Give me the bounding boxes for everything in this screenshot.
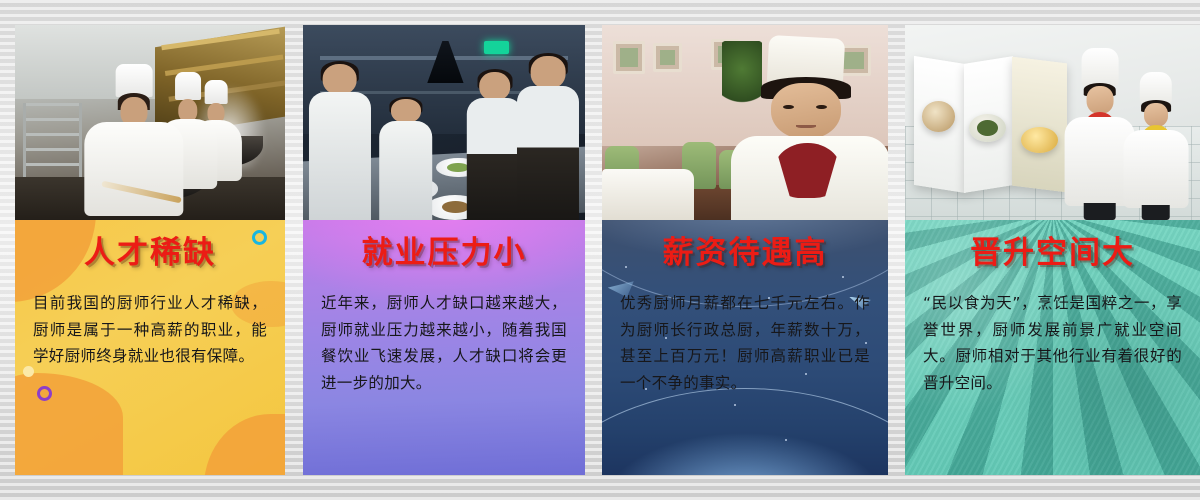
card-text-panel: 晋升空间大 “民以食为天”，烹饪是国粹之一，享誉世界，厨师发展前景广就业空间大。… [905,220,1200,475]
brochure-dish-3 [1021,127,1058,153]
wall-picture-2 [653,43,682,72]
cream-dot-icon [23,366,34,377]
brochure-chefs-scene-illustration [905,25,1200,220]
card-title: 晋升空间大 [923,236,1182,270]
advantage-card-low-employment-pressure[interactable]: 就业压力小 近年来，厨师人才缺口越来越大，厨师就业压力越来越小，随着我国餐饮业飞… [303,25,585,475]
dining-table [602,169,694,220]
cyan-ring-icon [252,230,267,245]
card-text-panel: 就业压力小 近年来，厨师人才缺口越来越大，厨师就业压力越来越小，随着我国餐饮业飞… [303,220,585,475]
kitchen-wok-scene-illustration [15,25,285,220]
chef-portrait-figure [728,37,888,220]
card-photo-chefs-tasting-dishes [303,25,585,220]
chef-figure-center-right [467,72,523,220]
card-text-panel: 人才稀缺 目前我国的厨师行业人才稀缺，厨师是属于一种高薪的职业，能学好厨师终身就… [15,220,285,475]
chef-figure-female [1123,72,1188,220]
card-body-text: “民以食为天”，烹饪是国粹之一，享誉世界，厨师发展前景广就业空间大。厨师相对于其… [923,290,1182,397]
purple-ring-icon [37,386,52,401]
chef-figure-center-left [379,99,433,220]
card-photo-smiling-chef [602,25,888,220]
wall-picture-1 [613,41,644,74]
advantage-card-talent-shortage[interactable]: 人才稀缺 目前我国的厨师行业人才稀缺，厨师是属于一种高薪的职业，能学好厨师终身就… [15,25,285,475]
exit-sign-icon [484,41,509,55]
card-title: 就业压力小 [321,236,567,270]
recipe-brochure [914,60,1067,189]
card-body-text: 优秀厨师月薪都在七千元左右。作为厨师长行政总厨，年薪数十万，甚至上百万元！厨师高… [620,290,870,397]
card-body-text: 目前我国的厨师行业人才稀缺，厨师是属于一种高薪的职业，能学好厨师终身就业也很有保… [33,290,267,370]
chef-figure-right [517,56,579,220]
card-photo-brochure-and-chefs [905,25,1200,220]
advantage-card-high-salary[interactable]: 薪资待遇高 优秀厨师月薪都在七千元左右。作为厨师长行政总厨，年薪数十万，甚至上百… [602,25,888,475]
restaurant-chef-scene-illustration [602,25,888,220]
card-text-panel: 薪资待遇高 优秀厨师月薪都在七千元左右。作为厨师长行政总厨，年薪数十万，甚至上百… [602,220,888,475]
brochure-dish-1 [922,101,956,132]
card-body-text: 近年来，厨师人才缺口越来越大，厨师就业压力越来越小，随着我国餐饮业飞速发展，人才… [321,290,567,397]
card-photo-chefs-cooking-with-woks [15,25,285,220]
advantage-card-promotion-space[interactable]: 晋升空间大 “民以食为天”，烹饪是国粹之一，享誉世界，厨师发展前景广就业空间大。… [905,25,1200,475]
tasting-kitchen-scene-illustration [303,25,585,220]
advantage-cards-board: 人才稀缺 目前我国的厨师行业人才稀缺，厨师是属于一种高薪的职业，能学好厨师终身就… [0,0,1200,500]
card-title: 薪资待遇高 [620,236,870,270]
chef-figure-left [309,64,371,220]
card-title: 人才稀缺 [33,236,267,270]
